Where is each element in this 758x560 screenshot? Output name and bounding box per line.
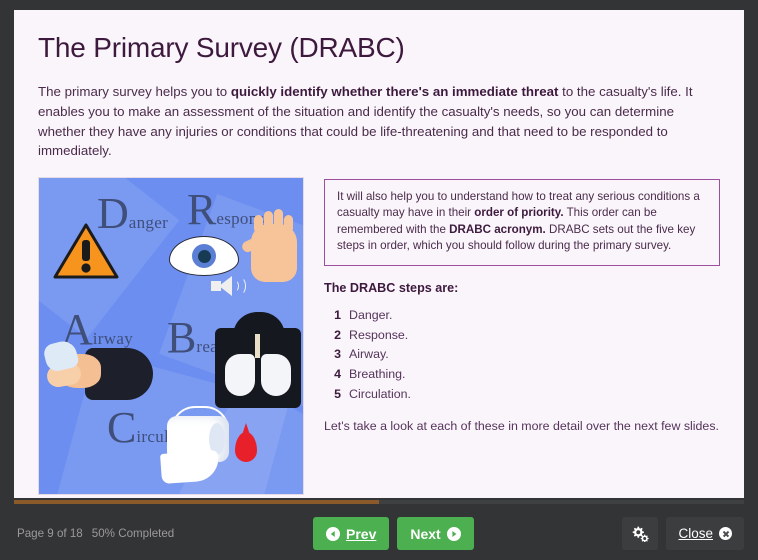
gear-icon: [631, 526, 649, 542]
list-item: 1 Danger.: [324, 306, 720, 326]
airway-illustration: [45, 340, 153, 402]
step-number: 3: [332, 346, 341, 363]
blood-drop-icon: [235, 432, 257, 462]
page-status: Page 9 of 18: [17, 527, 83, 540]
prev-button[interactable]: Prev: [313, 517, 389, 550]
prev-button-label: Prev: [346, 526, 376, 542]
drabc-illustration: Danger Response Airway Breathing Circula…: [38, 177, 304, 495]
hand-finger: [284, 215, 293, 233]
closing-paragraph: Let's take a look at each of these in mo…: [324, 418, 720, 435]
hand-finger: [254, 215, 263, 233]
settings-button[interactable]: [622, 517, 658, 550]
hand-icon: [251, 224, 297, 282]
close-button[interactable]: Close: [666, 517, 744, 550]
lung-right: [261, 354, 291, 396]
step-label: Danger.: [349, 307, 392, 324]
slide-right-column: It will also help you to understand how …: [324, 177, 720, 435]
intro-paragraph: The primary survey helps you to quickly …: [38, 82, 720, 161]
circulation-illustration: [157, 406, 273, 488]
list-item: 5 Circulation.: [324, 384, 720, 404]
intro-text-part1: The primary survey helps you to: [38, 84, 231, 99]
steps-heading: The DRABC steps are:: [324, 281, 720, 295]
letter-rest: anger: [129, 213, 168, 232]
navigation-button-group: Prev Next: [313, 517, 474, 550]
chevron-right-icon: [447, 527, 461, 541]
letter-cap: R: [187, 185, 216, 234]
player-tools-group: Close: [622, 517, 744, 550]
drabc-steps-list: 1 Danger. 2 Response. 3 Airway. 4: [324, 306, 720, 404]
next-button[interactable]: Next: [397, 517, 473, 550]
progress-bar-fill: [14, 500, 379, 504]
list-item: 4 Breathing.: [324, 365, 720, 385]
step-label: Breathing.: [349, 366, 405, 383]
warning-triangle-icon: [53, 222, 119, 280]
close-button-label: Close: [678, 526, 713, 541]
eye-pupil: [198, 250, 211, 263]
close-icon: [719, 527, 732, 540]
list-item: 2 Response.: [324, 325, 720, 345]
eye-icon: [169, 236, 239, 276]
page-title: The Primary Survey (DRABC): [38, 32, 720, 64]
chevron-left-icon: [326, 527, 340, 541]
callout-box: It will also help you to understand how …: [324, 179, 720, 266]
step-number: 4: [332, 366, 341, 383]
progress-bar-track[interactable]: [14, 500, 744, 504]
step-number: 2: [332, 327, 341, 344]
lung-left: [225, 354, 255, 396]
step-number: 1: [332, 307, 341, 324]
player-control-bar: Page 9 of 1850% Completed Prev Next: [0, 506, 758, 560]
next-button-label: Next: [410, 526, 440, 542]
list-item: 3 Airway.: [324, 345, 720, 365]
sound-wave: [234, 277, 246, 295]
speaker-sound-icon: [211, 276, 237, 296]
letter-cap: B: [167, 313, 196, 362]
intro-text-bold1: quickly identify whether there's an imme…: [231, 84, 559, 99]
course-player: The Primary Survey (DRABC) The primary s…: [0, 0, 758, 560]
callout-bold2: DRABC acronym.: [449, 223, 546, 236]
slide-body-columns: Danger Response Airway Breathing Circula…: [38, 177, 720, 495]
slide-content-area: The Primary Survey (DRABC) The primary s…: [14, 10, 744, 498]
trachea: [255, 334, 260, 358]
step-label: Airway.: [349, 346, 389, 363]
hand-finger: [274, 209, 283, 233]
step-label: Response.: [349, 327, 408, 344]
lungs-illustration: [215, 328, 301, 408]
status-text: Page 9 of 1850% Completed: [17, 527, 174, 540]
step-number: 5: [332, 386, 341, 403]
hand-finger: [264, 211, 273, 233]
completion-status: 50% Completed: [92, 527, 175, 540]
letter-cap: C: [107, 403, 136, 452]
callout-bold1: order of priority.: [474, 206, 563, 219]
bandage-tail: [160, 450, 220, 484]
step-label: Circulation.: [349, 386, 411, 403]
